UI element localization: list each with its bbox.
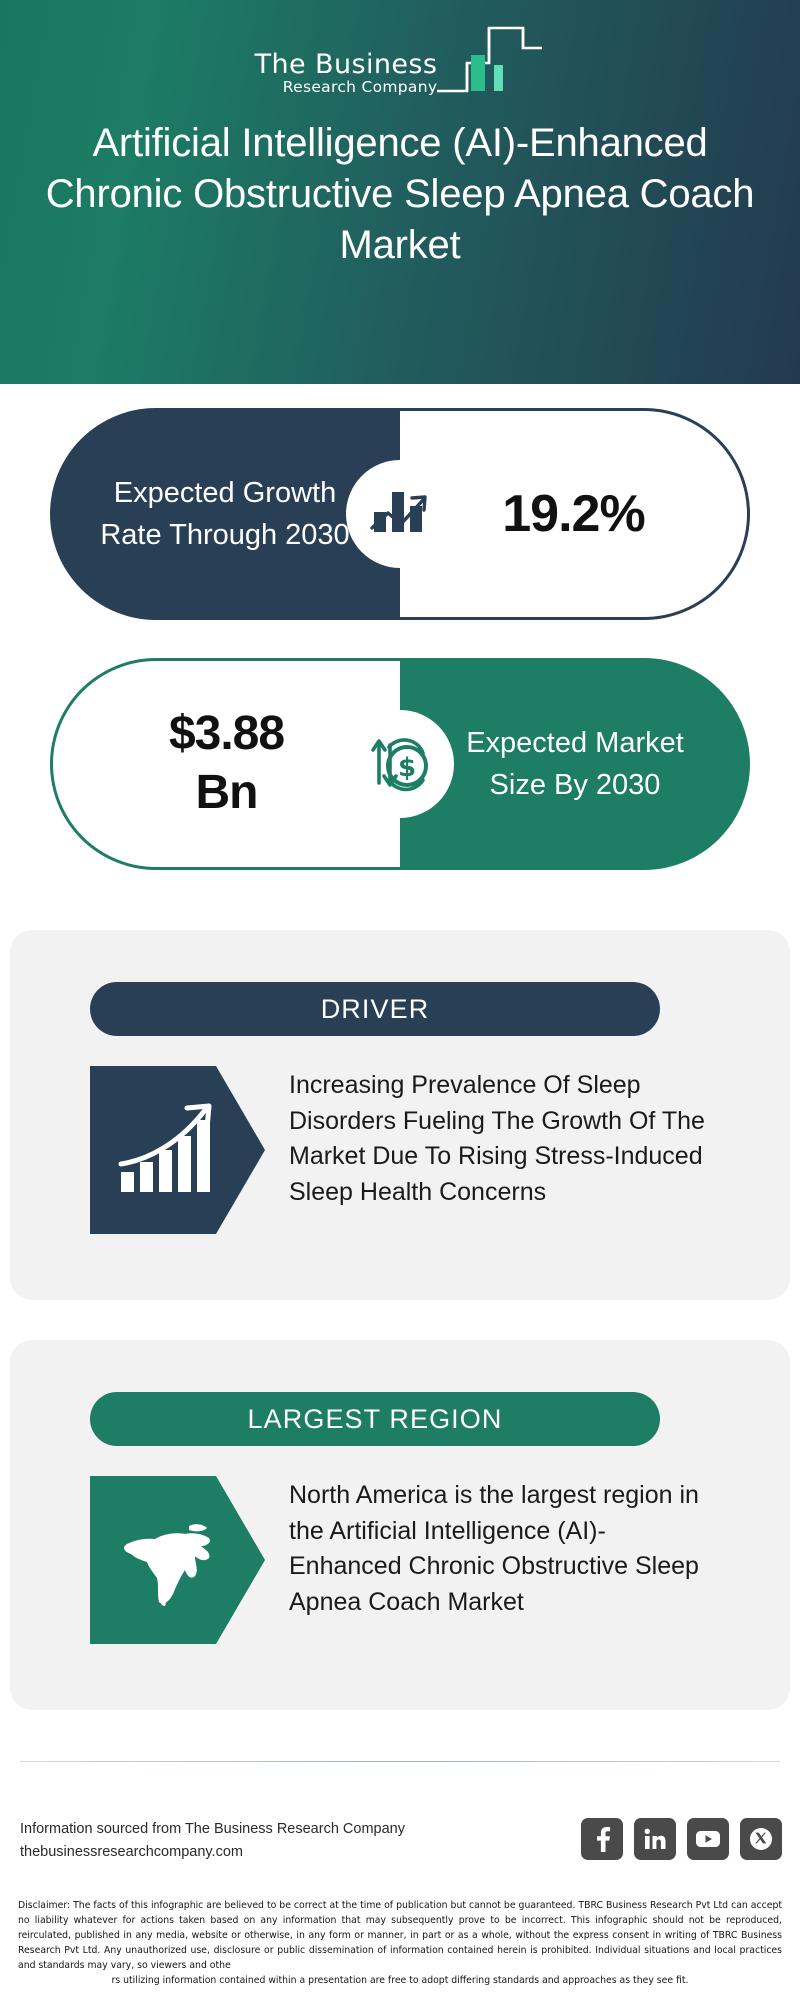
social-links (581, 1818, 782, 1860)
driver-heading-label: DRIVER (321, 994, 430, 1025)
footer-divider (20, 1761, 780, 1762)
company-logo: The Business Research Company (0, 22, 800, 100)
region-text: North America is the largest region in t… (265, 1476, 710, 1620)
logo-line-1: The Business (255, 51, 438, 78)
growth-chart-arrow-icon (346, 460, 454, 568)
logo-line-2: Research Company (255, 78, 438, 97)
driver-heading-pill: DRIVER (90, 982, 660, 1036)
largest-region-panel: LARGEST REGION North America is the larg… (10, 1340, 790, 1710)
svg-text:$: $ (398, 753, 416, 783)
market-size-value-line2: Bn (196, 766, 258, 819)
market-size-label: Expected Market Size By 2030 (450, 722, 700, 807)
driver-icon-arrow (90, 1066, 265, 1234)
stat-card-market-size: $3.88 Bn Expected Market Size By 2030 $ (50, 658, 750, 870)
driver-text: Increasing Prevalence Of Sleep Disorders… (265, 1066, 710, 1210)
north-america-map-icon (90, 1476, 265, 1644)
footer-source-line1: Information sourced from The Business Re… (20, 1818, 470, 1841)
disclaimer-last-line: rs utilizing information contained withi… (18, 1973, 782, 1988)
dollar-circular-arrows-icon: $ (346, 710, 454, 818)
market-size-value-line1: $3.88 (169, 707, 284, 760)
footer-source-url[interactable]: thebusinessresearchcompany.com (20, 1841, 470, 1864)
growth-rate-value: 19.2% (502, 484, 644, 544)
region-heading-pill: LARGEST REGION (90, 1392, 660, 1446)
region-icon-arrow (90, 1476, 265, 1644)
driver-body: Increasing Prevalence Of Sleep Disorders… (90, 1066, 710, 1234)
driver-panel: DRIVER Increasing Prevalence Of Sleep Di… (10, 930, 790, 1300)
linkedin-icon[interactable] (634, 1818, 676, 1860)
header-banner: The Business Research Company Artificial… (0, 0, 800, 384)
footer-disclaimer: Disclaimer: The facts of this infographi… (18, 1898, 782, 1988)
growth-rate-label: Expected Growth Rate Through 2030 (100, 472, 350, 557)
logo-wordmark: The Business Research Company (255, 51, 438, 100)
stat-card-growth-rate: Expected Growth Rate Through 2030 19.2% (50, 408, 750, 620)
region-body: North America is the largest region in t… (90, 1476, 710, 1644)
bar-chart-growth-arrow-icon (90, 1066, 265, 1234)
bar-chart-logo-icon (435, 22, 545, 99)
facebook-icon[interactable] (581, 1818, 623, 1860)
page-title: Artificial Intelligence (AI)-Enhanced Ch… (40, 118, 760, 272)
disclaimer-main: Disclaimer: The facts of this infographi… (18, 1900, 782, 1971)
market-size-value: $3.88 Bn (169, 705, 284, 822)
footer-source: Information sourced from The Business Re… (20, 1818, 470, 1865)
region-heading-label: LARGEST REGION (248, 1404, 503, 1435)
x-twitter-icon[interactable] (740, 1818, 782, 1860)
youtube-icon[interactable] (687, 1818, 729, 1860)
